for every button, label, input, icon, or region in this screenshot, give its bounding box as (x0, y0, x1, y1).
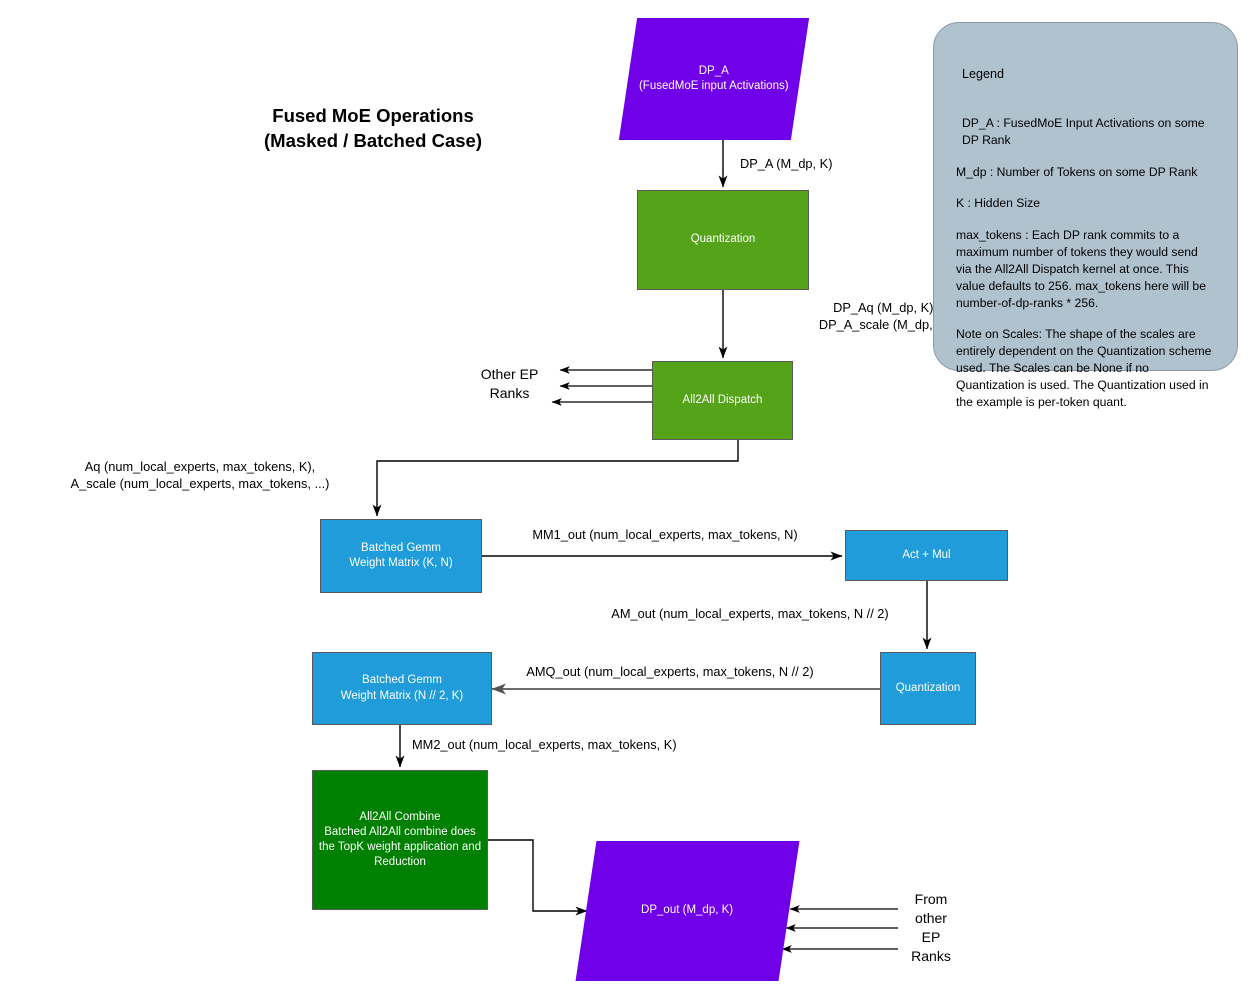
node-quantization-1-label: Quantization (691, 232, 756, 247)
node-dp-a-label: DP_A (FusedMoE input Activations) (639, 64, 789, 94)
node-act-mul-label: Act + Mul (902, 548, 950, 563)
edge-label-actmul-to-quant2: AM_out (num_local_experts, max_tokens, N… (580, 606, 920, 623)
legend-title: Legend (962, 67, 1215, 81)
node-all2all-combine-label: All2All Combine Batched All2All combine … (319, 810, 481, 871)
edge-label-dispatch-to-gemm1: Aq (num_local_experts, max_tokens, K), A… (40, 459, 360, 493)
node-quantization-1[interactable]: Quantization (637, 190, 809, 290)
legend-entry-note-on-scales: Note on Scales: The shape of the scales … (956, 326, 1215, 410)
legend-panel: Legend DP_A : FusedMoE Input Activations… (933, 22, 1238, 371)
node-quantization-2[interactable]: Quantization (880, 652, 976, 725)
legend-entry-max-tokens: max_tokens : Each DP rank commits to a m… (956, 227, 1215, 311)
node-dp-out-label: DP_out (M_dp, K) (641, 903, 733, 918)
node-all2all-dispatch[interactable]: All2All Dispatch (652, 361, 793, 440)
node-quantization-2-label: Quantization (896, 681, 961, 696)
node-dp-a[interactable]: DP_A (FusedMoE input Activations) (619, 18, 809, 140)
diagram-title: Fused MoE Operations (Masked / Batched C… (228, 104, 518, 154)
legend-entry-dp-a: DP_A : FusedMoE Input Activations on som… (962, 115, 1215, 149)
edge-label-quant2-to-gemm2: AMQ_out (num_local_experts, max_tokens, … (490, 664, 850, 681)
edge-label-gemm2-to-combine: MM2_out (num_local_experts, max_tokens, … (412, 737, 742, 754)
legend-entry-k: K : Hidden Size (956, 195, 1215, 212)
node-batched-gemm-2-label: Batched Gemm Weight Matrix (N // 2, K) (341, 673, 463, 703)
node-batched-gemm-1[interactable]: Batched Gemm Weight Matrix (K, N) (320, 519, 482, 593)
label-other-ep-ranks: Other EP Ranks (472, 365, 547, 403)
edge-label-gemm1-to-actmul: MM1_out (num_local_experts, max_tokens, … (500, 527, 830, 544)
node-act-mul[interactable]: Act + Mul (845, 530, 1008, 581)
node-dp-out[interactable]: DP_out (M_dp, K) (576, 841, 800, 981)
node-batched-gemm-2[interactable]: Batched Gemm Weight Matrix (N // 2, K) (312, 652, 492, 725)
node-all2all-combine[interactable]: All2All Combine Batched All2All combine … (312, 770, 488, 910)
edge-combine-to-dpout (488, 840, 587, 911)
legend-entry-m-dp: M_dp : Number of Tokens on some DP Rank (956, 164, 1215, 181)
node-batched-gemm-1-label: Batched Gemm Weight Matrix (K, N) (349, 541, 452, 571)
edge-dispatch-to-gemm1 (377, 440, 738, 516)
label-from-other-ep-ranks: From other EP Ranks (900, 890, 962, 966)
diagram-canvas: Fused MoE Operations (Masked / Batched C… (0, 0, 1260, 1001)
node-all2all-dispatch-label: All2All Dispatch (683, 393, 763, 408)
